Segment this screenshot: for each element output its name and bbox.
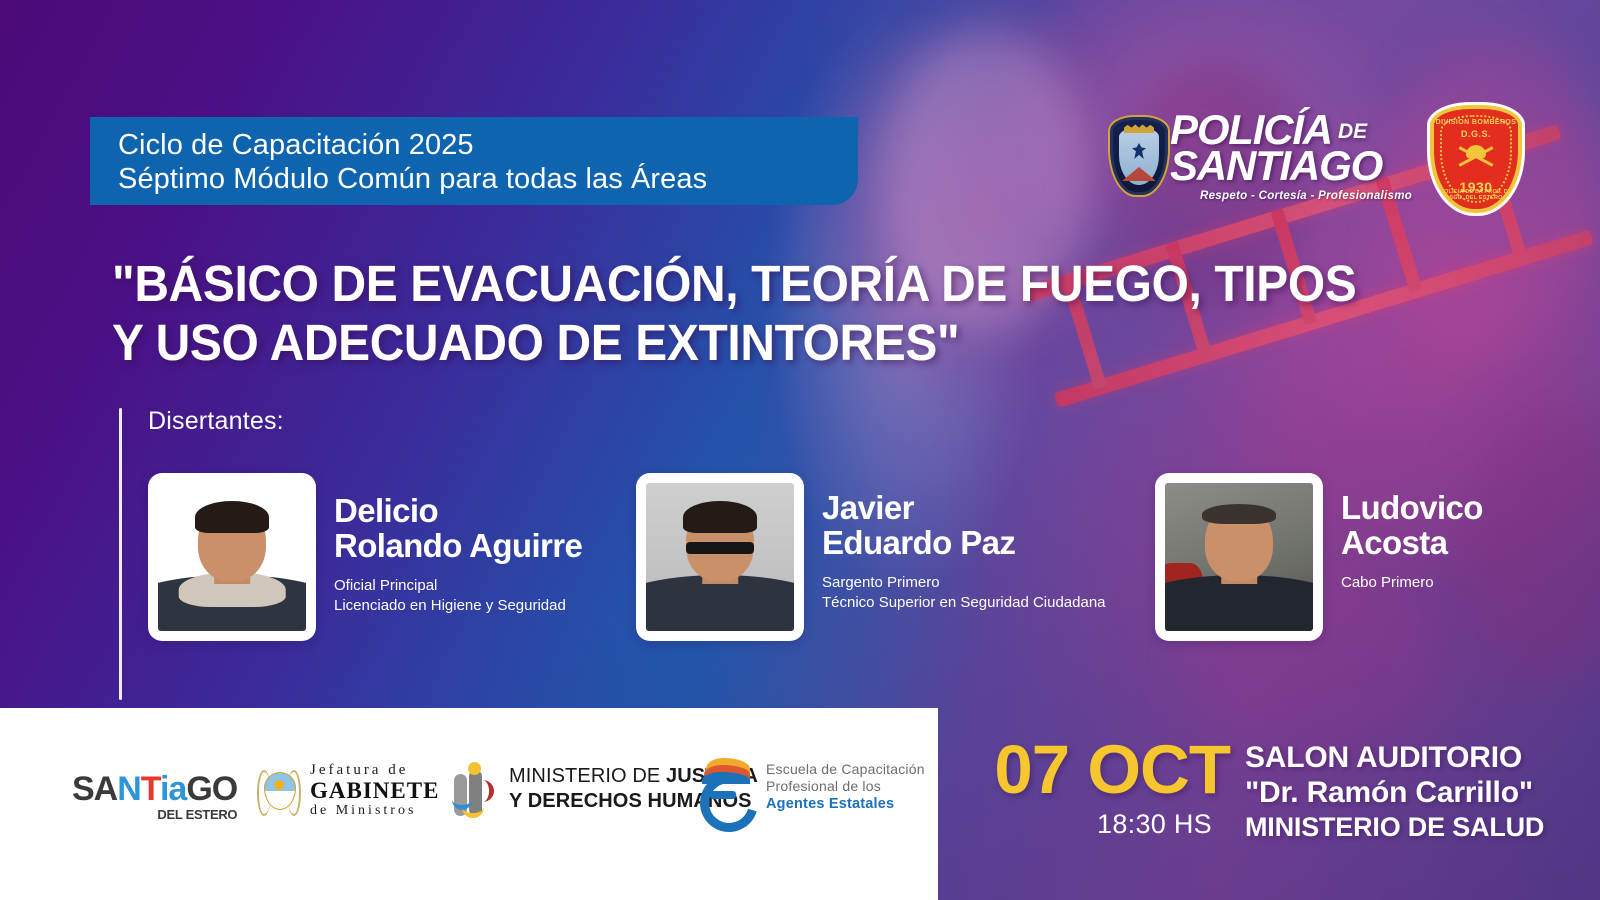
banner-line-2: Séptimo Módulo Común para todas las Área… <box>118 162 858 196</box>
speaker-card: Javier Eduardo Paz Sargento Primero Técn… <box>636 473 1106 641</box>
santiago-del-estero-logo: SANTiaGO DEL ESTERO <box>72 772 237 822</box>
speakers-divider-rule <box>119 408 122 700</box>
argentina-shield-icon <box>258 766 300 816</box>
santiago-t: T <box>141 770 160 808</box>
justicia-line-1-light: MINISTERIO DE <box>509 765 666 787</box>
santiago-a: a <box>168 770 186 808</box>
event-time: 18:30 HS <box>930 809 1212 840</box>
speaker-role-line-2: Técnico Superior en Seguridad Ciudadana <box>822 593 1106 613</box>
escuela-line-1: Escuela de Capacitación <box>766 761 925 778</box>
gabinete-line-3: de Ministros <box>310 803 439 819</box>
speaker-card: Delicio Rolando Aguirre Oficial Principa… <box>148 473 582 641</box>
gabinete-line-2: GABINETE <box>310 779 439 803</box>
escuela-line-3: Agentes Estatales <box>766 795 925 813</box>
speaker-card: Ludovico Acosta Cabo Primero <box>1155 473 1483 641</box>
banner-line-1: Ciclo de Capacitación 2025 <box>118 128 858 162</box>
speaker-name-line-1: Javier <box>822 490 1106 525</box>
venue-line-3: MINISTERIO DE SALUD <box>1245 810 1555 845</box>
justicia-mark-icon <box>452 762 498 816</box>
speaker-photo <box>158 483 306 631</box>
speaker-name-line-1: Ludovico <box>1341 490 1483 525</box>
header-banner: Ciclo de Capacitación 2025 Séptimo Módul… <box>90 117 858 205</box>
bomberos-bottom-text: POLICIA DE LA PROV. DE SGO. DEL ESTERO <box>1434 189 1518 201</box>
jefatura-gabinete-logo: Jefatura de GABINETE de Ministros <box>258 762 439 819</box>
event-venue-block: SALON AUDITORIO "Dr. Ramón Carrillo" MIN… <box>1245 740 1555 845</box>
bomberos-top-text: DIVISION BOMBEROS <box>1434 119 1518 126</box>
speakers-label: Disertantes: <box>148 407 284 436</box>
event-date: 07 OCT <box>930 735 1230 805</box>
speaker-role-line-2: Licenciado en Higiene y Seguridad <box>334 596 582 616</box>
speaker-role-line-1: Sargento Primero <box>822 573 1106 593</box>
speaker-name-line-2: Eduardo Paz <box>822 525 1106 560</box>
speaker-name-line-1: Delicio <box>334 493 582 528</box>
escuela-line-2: Profesional de los <box>766 778 925 795</box>
speaker-photo-frame <box>1155 473 1323 641</box>
santiago-sa: SA <box>72 770 117 808</box>
speaker-photo <box>1165 483 1313 631</box>
santiago-n: N <box>117 770 141 808</box>
title-line-1: "BÁSICO DE EVACUACIÓN, TEORÍA DE FUEGO, … <box>112 254 1428 313</box>
page-title: "BÁSICO DE EVACUACIÓN, TEORÍA DE FUEGO, … <box>112 254 1512 372</box>
title-line-2: Y USO ADECUADO DE EXTINTORES" <box>112 313 1428 372</box>
speaker-photo-frame <box>636 473 804 641</box>
escuela-capacitacion-logo: Escuela de Capacitación Profesional de l… <box>692 756 925 818</box>
escuela-mark-icon <box>692 756 758 818</box>
bomberos-badge-icon: DIVISION BOMBEROS D.G.S. 1930 POLICIA DE… <box>1430 105 1522 213</box>
speaker-role-line-1: Cabo Primero <box>1341 573 1483 593</box>
gabinete-line-1: Jefatura de <box>310 762 439 779</box>
speaker-name-line-2: Rolando Aguirre <box>334 528 582 563</box>
speaker-name-line-2: Acosta <box>1341 525 1483 560</box>
venue-line-2: "Dr. Ramón Carrillo" <box>1245 775 1555 810</box>
santiago-go: GO <box>186 770 237 808</box>
speaker-photo <box>646 483 794 631</box>
police-shield-icon <box>1108 115 1170 197</box>
santiago-subtitle: DEL ESTERO <box>72 807 237 822</box>
venue-line-1: SALON AUDITORIO <box>1245 740 1555 775</box>
speaker-role-line-1: Oficial Principal <box>334 576 582 596</box>
police-word-de: DE <box>1338 120 1367 143</box>
institutional-logo-cluster: POLICÍADE SANTIAGO Respeto - Cortesía - … <box>1100 103 1540 218</box>
speaker-photo-frame <box>148 473 316 641</box>
bomberos-dgs-text: D.G.S. <box>1434 129 1518 139</box>
event-flyer: Ciclo de Capacitación 2025 Séptimo Módul… <box>0 0 1600 900</box>
event-date-block: 07 OCT 18:30 HS <box>930 735 1230 840</box>
